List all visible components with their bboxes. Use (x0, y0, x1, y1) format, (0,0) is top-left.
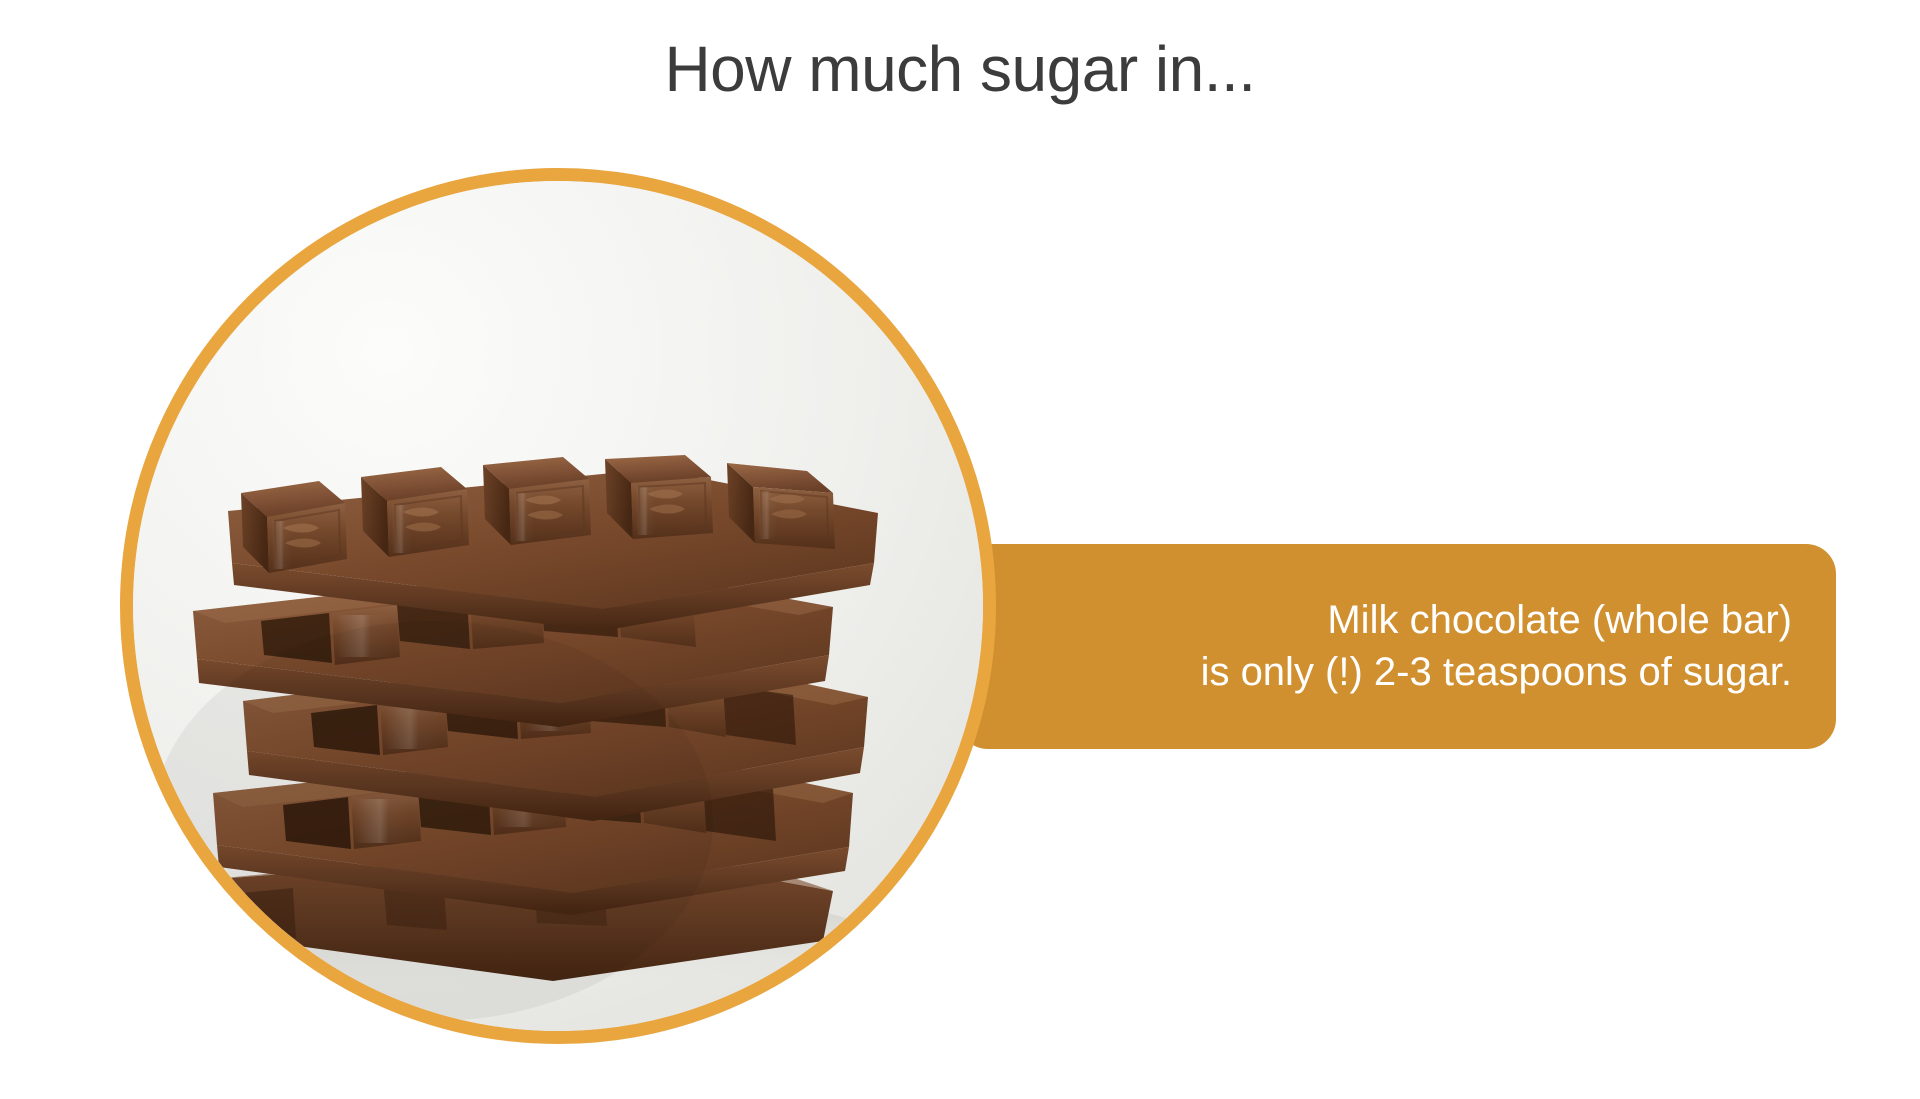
callout-banner: Milk chocolate (whole bar) is only (!) 2… (958, 544, 1836, 749)
callout-text: Milk chocolate (whole bar) is only (!) 2… (958, 594, 1792, 700)
slide-root: How much sugar in... Milk chocolate (who… (0, 0, 1920, 1099)
milk-chocolate-stack-photo (120, 168, 996, 1044)
callout-line-2: is only (!) 2-3 teaspoons of sugar. (958, 647, 1792, 700)
photo-image-area (133, 181, 983, 1031)
page-title: How much sugar in... (0, 32, 1920, 106)
callout-line-1: Milk chocolate (whole bar) (958, 594, 1792, 647)
chocolate-illustration (133, 181, 983, 1031)
